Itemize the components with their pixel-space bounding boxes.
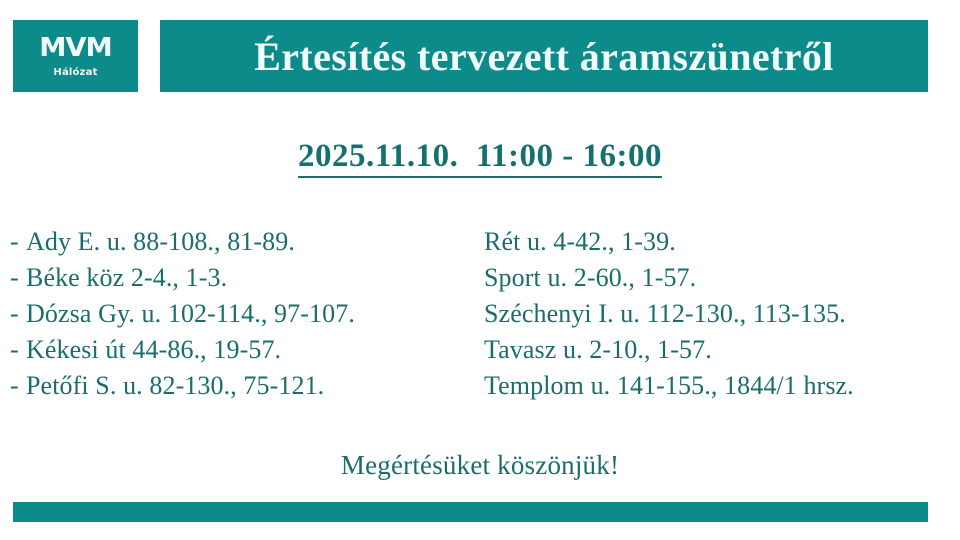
list-item: -Ady E. u. 88-108., 81-89.: [10, 224, 355, 260]
address-text: Petőfi S. u. 82-130., 75-121.: [26, 371, 324, 400]
list-item: Rét u. 4-42., 1-39.: [484, 224, 854, 260]
outage-datetime-row: 2025.11.10. 11:00 - 16:00: [0, 138, 960, 178]
list-item: Tavasz u. 2-10., 1-57.: [484, 332, 854, 368]
list-item: Széchenyi I. u. 112-130., 113-135.: [484, 296, 854, 332]
closing-message: Megértésüket köszönjük!: [0, 450, 960, 481]
mvm-wordmark-icon: MVM: [39, 35, 111, 61]
address-text: Tavasz u. 2-10., 1-57.: [484, 335, 712, 364]
bullet-dash-icon: -: [10, 332, 26, 368]
list-item: -Petőfi S. u. 82-130., 75-121.: [10, 368, 355, 404]
bullet-dash-icon: -: [10, 224, 26, 260]
address-text: Rét u. 4-42., 1-39.: [484, 227, 676, 256]
bullet-dash-icon: -: [10, 260, 26, 296]
outage-datetime: 2025.11.10. 11:00 - 16:00: [298, 138, 662, 178]
address-column-right: Rét u. 4-42., 1-39. Sport u. 2-60., 1-57…: [484, 224, 854, 404]
list-item: -Dózsa Gy. u. 102-114., 97-107.: [10, 296, 355, 332]
address-text: Kékesi út 44-86., 19-57.: [26, 335, 281, 364]
address-text: Sport u. 2-60., 1-57.: [484, 263, 696, 292]
bullet-dash-icon: -: [10, 368, 26, 404]
bullet-dash-icon: -: [10, 296, 26, 332]
footer-accent-bar: [13, 502, 928, 522]
list-item: Templom u. 141-155., 1844/1 hrsz.: [484, 368, 854, 404]
address-text: Ady E. u. 88-108., 81-89.: [26, 227, 295, 256]
page-title: Értesítés tervezett áramszünetről: [254, 33, 834, 80]
list-item: Sport u. 2-60., 1-57.: [484, 260, 854, 296]
address-text: Béke köz 2-4., 1-3.: [26, 263, 227, 292]
mvm-logo: MVM Hálózat: [13, 20, 138, 92]
address-text: Dózsa Gy. u. 102-114., 97-107.: [26, 299, 355, 328]
address-column-left: -Ady E. u. 88-108., 81-89. -Béke köz 2-4…: [10, 224, 355, 404]
affected-addresses: -Ady E. u. 88-108., 81-89. -Béke köz 2-4…: [0, 224, 960, 409]
address-text: Széchenyi I. u. 112-130., 113-135.: [484, 299, 846, 328]
list-item: -Kékesi út 44-86., 19-57.: [10, 332, 355, 368]
address-text: Templom u. 141-155., 1844/1 hrsz.: [484, 371, 854, 400]
page-header: MVM Hálózat Értesítés tervezett áramszün…: [0, 20, 960, 92]
title-banner: Értesítés tervezett áramszünetről: [160, 20, 928, 92]
mvm-logo-subtitle: Hálózat: [53, 68, 97, 78]
list-item: -Béke köz 2-4., 1-3.: [10, 260, 355, 296]
